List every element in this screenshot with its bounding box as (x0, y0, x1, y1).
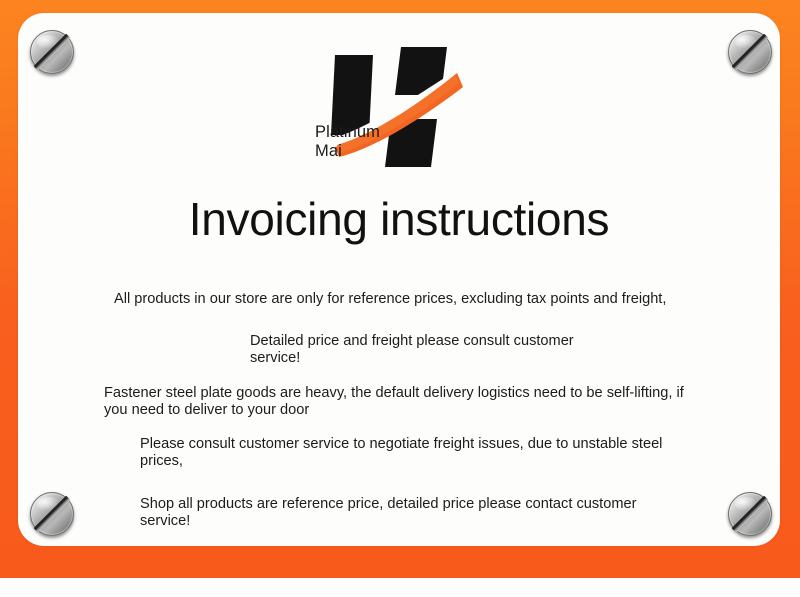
instruction-paragraph-3: Fastener steel plate goods are heavy, th… (104, 385, 704, 419)
instruction-paragraph-5: Shop all products are reference price, d… (140, 496, 680, 530)
screw-icon (30, 30, 74, 74)
screw-icon (30, 492, 74, 536)
content-panel: Platinum Mai Invoicing instructions All … (18, 13, 780, 546)
poster-background: Platinum Mai Invoicing instructions All … (0, 0, 800, 578)
logo-area: Platinum Mai (18, 43, 780, 178)
instruction-paragraph-2: Detailed price and freight please consul… (250, 333, 590, 367)
screw-icon (728, 492, 772, 536)
platinum-mai-logo: Platinum Mai (329, 43, 469, 171)
instruction-paragraph-1: All products in our store are only for r… (114, 291, 714, 308)
page-title: Invoicing instructions (18, 191, 780, 247)
instruction-paragraph-4: Please consult customer service to negot… (140, 436, 670, 470)
bottom-white-strip (0, 578, 800, 597)
screw-icon (728, 30, 772, 74)
logo-brand-text: Platinum Mai (315, 123, 380, 161)
